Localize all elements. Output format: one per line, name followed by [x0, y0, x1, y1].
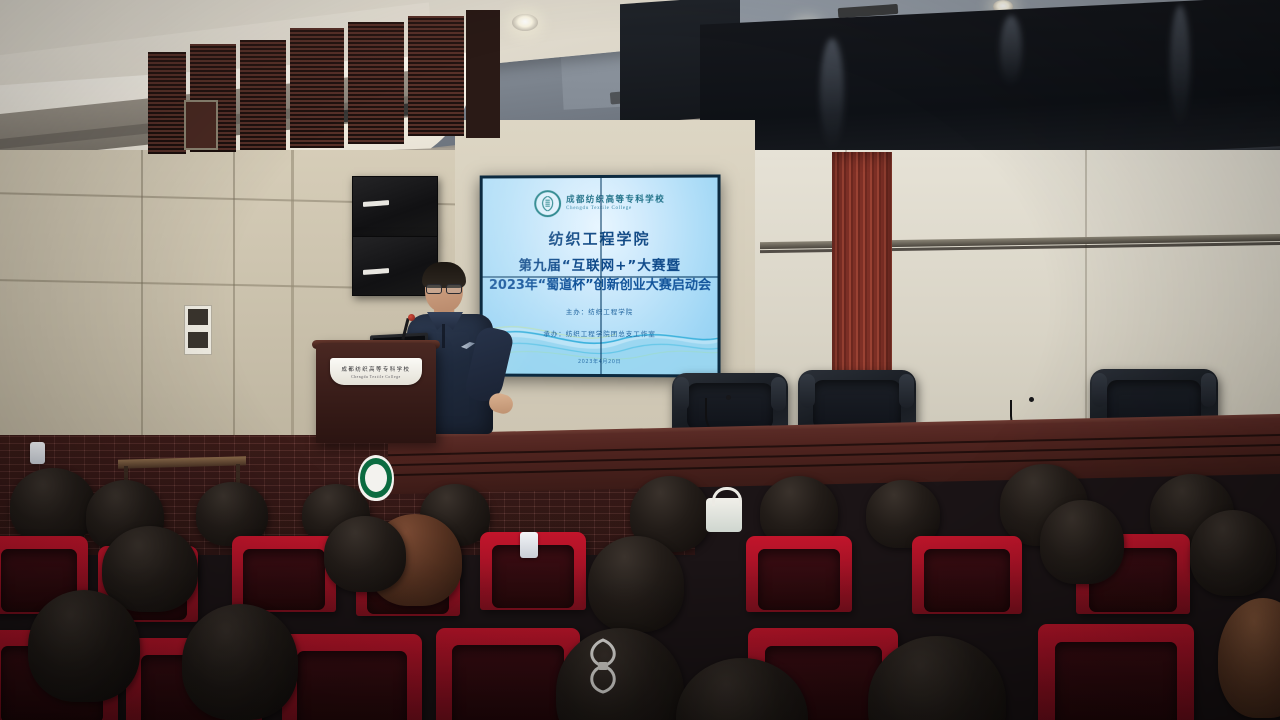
valance-highlight-1: [820, 38, 844, 149]
handbag-handle: [712, 487, 742, 506]
wall-dark-strip: [466, 10, 500, 138]
wall-right-seam-v2: [1085, 150, 1087, 450]
audience-head-m1: [102, 526, 198, 612]
podium-nameplate-en: Chengdu Textile College: [351, 375, 401, 379]
wall-outlet[interactable]: [184, 305, 212, 355]
stage-chair-2-wing-left: [800, 374, 815, 408]
coffee-cup-logo-icon: [358, 455, 394, 501]
valance-highlight-3: [1170, 5, 1190, 126]
podium-mic-windscreen: [408, 314, 415, 321]
outlet-socket-top: [188, 309, 208, 325]
stage-chair-1-wing-left: [674, 377, 689, 411]
seat-f4-inner: [452, 645, 564, 720]
hair-clip-icon: [580, 636, 626, 698]
wall-grille-3: [240, 40, 286, 150]
speaker-port-top: [363, 200, 389, 207]
audience-area: [0, 440, 1280, 720]
podium-nameplate: 成都纺织高等专科学校 Chengdu Textile College: [330, 358, 422, 385]
stage-chair-3-wing-left: [1092, 373, 1107, 407]
slide-logo-en: Chengdu Textile College: [566, 206, 665, 211]
audience-seat-m6[interactable]: [746, 536, 852, 612]
pa-speaker-top: [352, 176, 438, 237]
seat-f6-inner: [1055, 642, 1177, 720]
outlet-socket-bottom: [188, 332, 208, 348]
audience-phone-2[interactable]: [520, 532, 538, 558]
college-emblem-icon: [534, 190, 561, 217]
glasses-icon: [426, 284, 462, 292]
led-screen-content: 成都纺织高等专科学校 Chengdu Textile College 纺织工程学…: [483, 178, 718, 375]
slide-logo-cn: 成都纺织高等专科学校: [566, 196, 665, 205]
audience-head-f2: [182, 604, 298, 720]
auditorium-photo: 成都纺织高等专科学校 Chengdu Textile College 纺织工程学…: [0, 0, 1280, 720]
audience-head-m4: [588, 536, 684, 632]
wall-grille-6: [408, 16, 464, 136]
wall-grille-5: [348, 22, 404, 144]
wall-access-door: [184, 100, 218, 150]
audience-seat-f3[interactable]: [282, 634, 422, 720]
audience-head-b1: [10, 468, 96, 544]
cup-inner: [365, 464, 387, 492]
led-video-wall[interactable]: 成都纺织高等专科学校 Chengdu Textile College 纺织工程学…: [480, 174, 721, 377]
wall-grille-4: [290, 28, 344, 148]
audience-head-m3: [324, 516, 406, 592]
stage-mic-1-head: [726, 395, 731, 400]
stage-mic-2-head: [1029, 397, 1034, 402]
glasses-lens-right: [446, 284, 462, 294]
audience-head-m5: [1040, 500, 1124, 584]
audience-seat-m3[interactable]: [232, 536, 336, 612]
presenter-placket: [442, 324, 445, 348]
glasses-lens-left: [426, 284, 442, 294]
audience-phone-1[interactable]: [30, 442, 45, 464]
wall-seam-v2: [233, 150, 235, 435]
audience-head-m6: [1190, 510, 1276, 596]
wall-seam-v1: [141, 150, 143, 435]
led-seam-horizontal: [483, 276, 718, 278]
audience-head-f6: [1218, 598, 1280, 718]
seat-m3-inner: [243, 549, 324, 610]
wall-grille-1: [148, 52, 186, 154]
stage-chair-2-wing-right: [899, 374, 914, 408]
wall-pilaster: [291, 150, 294, 435]
stage-chair-1-wing-right: [771, 377, 786, 411]
audience-head-f1: [28, 590, 140, 702]
podium-nameplate-cn: 成都纺织高等专科学校: [342, 365, 411, 373]
seat-m7-inner: [924, 549, 1010, 611]
slide-logo-text: 成都纺织高等专科学校 Chengdu Textile College: [566, 196, 665, 212]
downlight-1: [512, 14, 538, 31]
audience-handbag: [706, 498, 742, 532]
seat-f3-inner: [297, 651, 406, 720]
valance-highlight-2: [1000, 15, 1022, 86]
audience-seat-f6[interactable]: [1038, 624, 1194, 720]
audience-seat-m7[interactable]: [912, 536, 1022, 614]
seat-m6-inner: [758, 549, 841, 610]
stage-chair-3-wing-right: [1201, 373, 1216, 407]
speaker-port-bottom: [363, 268, 389, 275]
